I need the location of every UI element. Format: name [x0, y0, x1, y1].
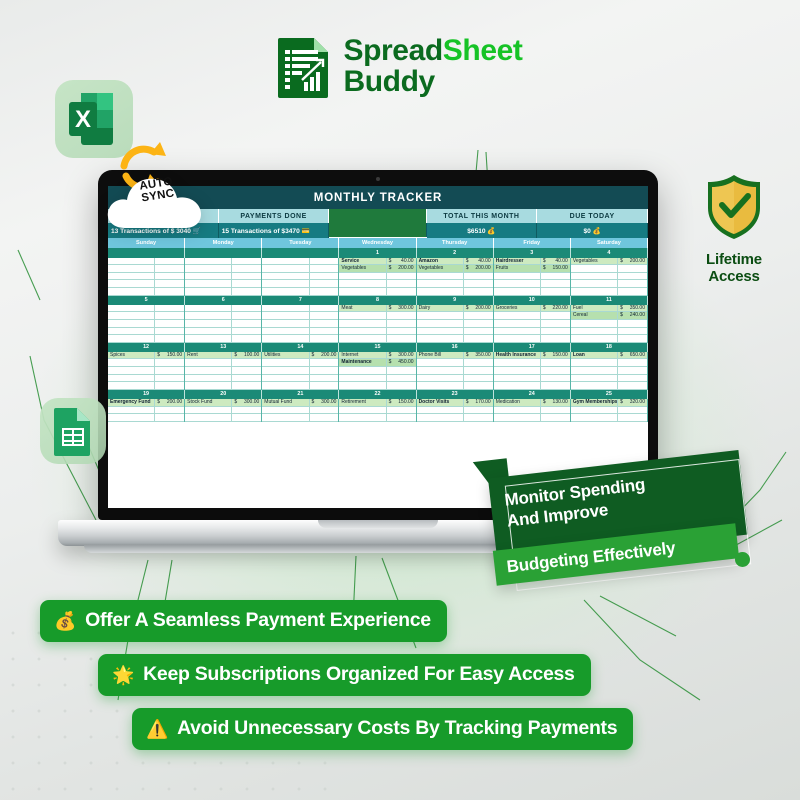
- calendar-cell[interactable]: [108, 375, 185, 383]
- expense-name[interactable]: [108, 312, 155, 320]
- expense-name[interactable]: [262, 273, 309, 281]
- expense-name[interactable]: [108, 382, 155, 390]
- expense-amount[interactable]: [618, 367, 647, 375]
- expense-name[interactable]: [494, 414, 541, 422]
- expense-name[interactable]: [417, 414, 464, 422]
- expense-name[interactable]: Stock Fund: [185, 399, 232, 407]
- calendar-cell[interactable]: [185, 407, 262, 415]
- expense-amount[interactable]: [541, 375, 570, 383]
- expense-name[interactable]: Meat: [339, 305, 386, 313]
- expense-amount[interactable]: [618, 335, 647, 343]
- calendar-cell[interactable]: [571, 335, 648, 343]
- expense-amount[interactable]: [155, 375, 184, 383]
- calendar-cell[interactable]: [494, 273, 571, 281]
- calendar-cell[interactable]: [262, 328, 339, 336]
- calendar-cell[interactable]: [339, 335, 416, 343]
- expense-name[interactable]: [185, 273, 232, 281]
- expense-name[interactable]: [108, 265, 155, 273]
- expense-name[interactable]: [185, 382, 232, 390]
- expense-amount[interactable]: [541, 328, 570, 336]
- calendar-cell[interactable]: [262, 320, 339, 328]
- expense-name[interactable]: [108, 288, 155, 296]
- expense-name[interactable]: [339, 335, 386, 343]
- expense-name[interactable]: [571, 407, 618, 415]
- expense-name[interactable]: Cereal: [571, 312, 618, 320]
- calendar-cell[interactable]: [494, 288, 571, 296]
- expense-name[interactable]: Gym Memberships: [571, 399, 618, 407]
- expense-amount[interactable]: [310, 305, 339, 313]
- expense-amount[interactable]: [232, 288, 261, 296]
- calendar-cell[interactable]: [417, 288, 494, 296]
- expense-name[interactable]: [417, 407, 464, 415]
- calendar-cell[interactable]: [417, 280, 494, 288]
- calendar-cell[interactable]: [339, 407, 416, 415]
- expense-amount[interactable]: $320.00: [618, 399, 647, 407]
- expense-name[interactable]: [339, 320, 386, 328]
- expense-amount[interactable]: $300.00: [232, 399, 261, 407]
- expense-name[interactable]: [262, 367, 309, 375]
- expense-amount[interactable]: [541, 288, 570, 296]
- day-number[interactable]: 24: [494, 390, 571, 399]
- expense-name[interactable]: Amazon: [417, 258, 464, 266]
- expense-name[interactable]: [262, 382, 309, 390]
- calendar-cell[interactable]: [494, 312, 571, 320]
- day-number[interactable]: 21: [262, 390, 339, 399]
- calendar-cell[interactable]: [262, 407, 339, 415]
- calendar-cell[interactable]: [185, 305, 262, 313]
- expense-amount[interactable]: $150.00: [155, 352, 184, 360]
- expense-name[interactable]: Vegetables: [339, 265, 386, 273]
- expense-name[interactable]: Utilities: [262, 352, 309, 360]
- calendar-cell[interactable]: [185, 320, 262, 328]
- calendar-cell[interactable]: [417, 359, 494, 367]
- calendar-cell[interactable]: [339, 328, 416, 336]
- calendar-cell[interactable]: [185, 265, 262, 273]
- expense-amount[interactable]: [310, 280, 339, 288]
- day-number[interactable]: 23: [417, 390, 494, 399]
- expense-name[interactable]: [108, 414, 155, 422]
- expense-name[interactable]: [417, 312, 464, 320]
- calendar-cell[interactable]: [185, 280, 262, 288]
- calendar-cell[interactable]: [417, 407, 494, 415]
- expense-amount[interactable]: [155, 407, 184, 415]
- expense-name[interactable]: [339, 367, 386, 375]
- calendar-cell[interactable]: [108, 414, 185, 422]
- calendar-cell[interactable]: Vegetables$200.00: [417, 265, 494, 273]
- expense-name[interactable]: [494, 407, 541, 415]
- expense-amount[interactable]: [541, 320, 570, 328]
- expense-name[interactable]: [262, 305, 309, 313]
- expense-name[interactable]: [571, 328, 618, 336]
- calendar-cell[interactable]: Rent$100.00: [185, 352, 262, 360]
- expense-amount[interactable]: [387, 273, 416, 281]
- expense-name[interactable]: [185, 280, 232, 288]
- calendar-cell[interactable]: [185, 273, 262, 281]
- day-number[interactable]: 17: [494, 343, 571, 352]
- calendar-cell[interactable]: [339, 320, 416, 328]
- expense-name[interactable]: [185, 258, 232, 266]
- expense-amount[interactable]: [464, 273, 493, 281]
- expense-amount[interactable]: [310, 265, 339, 273]
- expense-name[interactable]: [571, 288, 618, 296]
- expense-amount[interactable]: $40.00: [541, 258, 570, 266]
- calendar-cell[interactable]: [571, 280, 648, 288]
- expense-name[interactable]: Spices: [108, 352, 155, 360]
- expense-name[interactable]: Vegetables: [417, 265, 464, 273]
- expense-amount[interactable]: [155, 312, 184, 320]
- calendar-cell[interactable]: [185, 328, 262, 336]
- calendar-cell[interactable]: [417, 273, 494, 281]
- expense-amount[interactable]: [464, 359, 493, 367]
- calendar-cell[interactable]: Health Insurance$150.00: [494, 352, 571, 360]
- expense-amount[interactable]: [387, 407, 416, 415]
- expense-name[interactable]: Hairdresser: [494, 258, 541, 266]
- calendar-cell[interactable]: [571, 382, 648, 390]
- calendar-cell[interactable]: [108, 407, 185, 415]
- expense-name[interactable]: [339, 280, 386, 288]
- calendar-cell[interactable]: [262, 335, 339, 343]
- calendar-cell[interactable]: Maintenance$450.00: [339, 359, 416, 367]
- expense-name[interactable]: [262, 320, 309, 328]
- calendar-cell[interactable]: [571, 375, 648, 383]
- expense-name[interactable]: [494, 382, 541, 390]
- expense-amount[interactable]: [310, 288, 339, 296]
- expense-name[interactable]: [262, 359, 309, 367]
- expense-amount[interactable]: [618, 280, 647, 288]
- calendar-cell[interactable]: [108, 273, 185, 281]
- expense-amount[interactable]: [155, 273, 184, 281]
- calendar-cell[interactable]: [417, 375, 494, 383]
- expense-amount[interactable]: [155, 359, 184, 367]
- expense-name[interactable]: [185, 375, 232, 383]
- expense-amount[interactable]: [387, 328, 416, 336]
- expense-amount[interactable]: [232, 359, 261, 367]
- expense-amount[interactable]: [464, 328, 493, 336]
- calendar-cell[interactable]: [339, 382, 416, 390]
- calendar-cell[interactable]: Meat$300.00: [339, 305, 416, 313]
- calendar-cell[interactable]: [108, 288, 185, 296]
- expense-name[interactable]: Rent: [185, 352, 232, 360]
- expense-amount[interactable]: [310, 407, 339, 415]
- day-number[interactable]: 8: [339, 296, 416, 305]
- expense-amount[interactable]: $300.00: [310, 399, 339, 407]
- expense-amount[interactable]: [541, 359, 570, 367]
- expense-name[interactable]: [571, 382, 618, 390]
- expense-amount[interactable]: [310, 414, 339, 422]
- calendar-cell[interactable]: [108, 320, 185, 328]
- expense-name[interactable]: [108, 407, 155, 415]
- calendar-cell[interactable]: Internet$300.00: [339, 352, 416, 360]
- expense-amount[interactable]: $650.00: [618, 352, 647, 360]
- expense-name[interactable]: [417, 320, 464, 328]
- day-number[interactable]: [262, 248, 339, 257]
- expense-amount[interactable]: $170.00: [464, 399, 493, 407]
- calendar-cell[interactable]: [185, 375, 262, 383]
- calendar-cell[interactable]: [494, 367, 571, 375]
- calendar-cell[interactable]: Utilities$200.00: [262, 352, 339, 360]
- calendar-cell[interactable]: [571, 273, 648, 281]
- expense-amount[interactable]: [310, 375, 339, 383]
- expense-name[interactable]: [339, 312, 386, 320]
- expense-amount[interactable]: $40.00: [387, 258, 416, 266]
- expense-name[interactable]: [185, 414, 232, 422]
- expense-amount[interactable]: [310, 367, 339, 375]
- expense-amount[interactable]: [155, 414, 184, 422]
- expense-amount[interactable]: [387, 335, 416, 343]
- expense-amount[interactable]: [541, 335, 570, 343]
- expense-name[interactable]: Service: [339, 258, 386, 266]
- calendar-cell[interactable]: Mutual Fund$300.00: [262, 399, 339, 407]
- expense-name[interactable]: Health Insurance: [494, 352, 541, 360]
- expense-name[interactable]: [262, 258, 309, 266]
- expense-amount[interactable]: [387, 414, 416, 422]
- expense-amount[interactable]: [618, 288, 647, 296]
- expense-amount[interactable]: [232, 328, 261, 336]
- expense-amount[interactable]: [541, 414, 570, 422]
- expense-amount[interactable]: [232, 280, 261, 288]
- expense-amount[interactable]: [155, 320, 184, 328]
- calendar-cell[interactable]: [185, 382, 262, 390]
- expense-amount[interactable]: [232, 265, 261, 273]
- calendar-cell[interactable]: Emergency Fund$200.00: [108, 399, 185, 407]
- calendar-cell[interactable]: Medication$130.00: [494, 399, 571, 407]
- expense-amount[interactable]: [541, 367, 570, 375]
- expense-name[interactable]: [417, 382, 464, 390]
- calendar-cell[interactable]: [571, 414, 648, 422]
- expense-name[interactable]: Fruits: [494, 265, 541, 273]
- expense-name[interactable]: [108, 280, 155, 288]
- day-number[interactable]: 19: [108, 390, 185, 399]
- expense-name[interactable]: [262, 265, 309, 273]
- expense-amount[interactable]: [464, 320, 493, 328]
- day-number[interactable]: 25: [571, 390, 648, 399]
- expense-amount[interactable]: [232, 273, 261, 281]
- calendar-cell[interactable]: [108, 335, 185, 343]
- expense-amount[interactable]: [618, 382, 647, 390]
- expense-name[interactable]: [108, 305, 155, 313]
- calendar-cell[interactable]: [108, 265, 185, 273]
- expense-amount[interactable]: $220.00: [541, 305, 570, 313]
- expense-name[interactable]: [185, 312, 232, 320]
- day-number[interactable]: [185, 248, 262, 257]
- expense-name[interactable]: [571, 335, 618, 343]
- expense-amount[interactable]: [541, 312, 570, 320]
- expense-name[interactable]: [417, 288, 464, 296]
- day-number[interactable]: 11: [571, 296, 648, 305]
- calendar-cell[interactable]: [108, 280, 185, 288]
- expense-amount[interactable]: $200.00: [155, 399, 184, 407]
- calendar-cell[interactable]: [339, 280, 416, 288]
- expense-name[interactable]: [262, 407, 309, 415]
- expense-name[interactable]: [417, 359, 464, 367]
- expense-amount[interactable]: [310, 273, 339, 281]
- expense-amount[interactable]: [387, 312, 416, 320]
- expense-name[interactable]: [494, 312, 541, 320]
- expense-amount[interactable]: [155, 382, 184, 390]
- expense-name[interactable]: [417, 273, 464, 281]
- expense-name[interactable]: Fuel: [571, 305, 618, 313]
- expense-name[interactable]: [339, 407, 386, 415]
- expense-amount[interactable]: [618, 359, 647, 367]
- expense-name[interactable]: Internet: [339, 352, 386, 360]
- expense-name[interactable]: Retirement: [339, 399, 386, 407]
- calendar-cell[interactable]: Amazon$40.00: [417, 258, 494, 266]
- expense-amount[interactable]: [155, 280, 184, 288]
- expense-amount[interactable]: $150.00: [387, 399, 416, 407]
- expense-amount[interactable]: [387, 367, 416, 375]
- calendar-cell[interactable]: [108, 258, 185, 266]
- day-number[interactable]: 4: [571, 248, 648, 257]
- expense-amount[interactable]: $40.00: [464, 258, 493, 266]
- expense-amount[interactable]: [387, 375, 416, 383]
- expense-amount[interactable]: [232, 375, 261, 383]
- expense-amount[interactable]: [310, 258, 339, 266]
- expense-name[interactable]: Groceries: [494, 305, 541, 313]
- expense-amount[interactable]: [464, 280, 493, 288]
- calendar-cell[interactable]: Hairdresser$40.00: [494, 258, 571, 266]
- calendar-cell[interactable]: [417, 414, 494, 422]
- day-number[interactable]: 22: [339, 390, 416, 399]
- expense-amount[interactable]: [541, 382, 570, 390]
- expense-name[interactable]: [185, 367, 232, 375]
- expense-amount[interactable]: [387, 288, 416, 296]
- expense-name[interactable]: [494, 367, 541, 375]
- expense-name[interactable]: [494, 288, 541, 296]
- calendar-cell[interactable]: [262, 305, 339, 313]
- expense-amount[interactable]: $100.00: [232, 352, 261, 360]
- expense-amount[interactable]: [618, 328, 647, 336]
- calendar-cell[interactable]: Cereal$240.00: [571, 312, 648, 320]
- expense-amount[interactable]: [541, 273, 570, 281]
- calendar-cell[interactable]: [494, 280, 571, 288]
- expense-amount[interactable]: $200.00: [464, 265, 493, 273]
- calendar-cell[interactable]: [262, 273, 339, 281]
- expense-amount[interactable]: [464, 312, 493, 320]
- day-number[interactable]: 2: [417, 248, 494, 257]
- expense-name[interactable]: [108, 320, 155, 328]
- calendar-cell[interactable]: [494, 320, 571, 328]
- expense-amount[interactable]: $200.00: [310, 352, 339, 360]
- calendar-cell[interactable]: Stock Fund$300.00: [185, 399, 262, 407]
- day-number[interactable]: 18: [571, 343, 648, 352]
- expense-amount[interactable]: [155, 305, 184, 313]
- calendar-cell[interactable]: [339, 367, 416, 375]
- calendar-cell[interactable]: [571, 407, 648, 415]
- expense-name[interactable]: [262, 414, 309, 422]
- day-number[interactable]: 1: [339, 248, 416, 257]
- expense-name[interactable]: [417, 335, 464, 343]
- expense-name[interactable]: [339, 375, 386, 383]
- expense-name[interactable]: Dairy: [417, 305, 464, 313]
- expense-amount[interactable]: [541, 407, 570, 415]
- expense-name[interactable]: Vegetables: [571, 258, 618, 266]
- expense-amount[interactable]: [618, 375, 647, 383]
- expense-amount[interactable]: [464, 375, 493, 383]
- expense-amount[interactable]: [618, 407, 647, 415]
- calendar-cell[interactable]: [262, 359, 339, 367]
- expense-name[interactable]: [494, 273, 541, 281]
- expense-name[interactable]: [185, 328, 232, 336]
- expense-amount[interactable]: [155, 335, 184, 343]
- expense-amount[interactable]: [310, 382, 339, 390]
- expense-amount[interactable]: $150.00: [541, 352, 570, 360]
- expense-name[interactable]: Emergency Fund: [108, 399, 155, 407]
- expense-name[interactable]: Maintenance: [339, 359, 386, 367]
- expense-name[interactable]: [108, 273, 155, 281]
- expense-amount[interactable]: [310, 312, 339, 320]
- expense-amount[interactable]: [232, 382, 261, 390]
- day-number[interactable]: 10: [494, 296, 571, 305]
- expense-amount[interactable]: [464, 367, 493, 375]
- expense-name[interactable]: [185, 359, 232, 367]
- expense-amount[interactable]: [464, 288, 493, 296]
- day-number[interactable]: 12: [108, 343, 185, 352]
- expense-name[interactable]: Phone Bill: [417, 352, 464, 360]
- expense-amount[interactable]: $240.00: [618, 312, 647, 320]
- calendar-cell[interactable]: Dairy$200.00: [417, 305, 494, 313]
- expense-name[interactable]: [494, 359, 541, 367]
- expense-amount[interactable]: [464, 335, 493, 343]
- calendar-cell[interactable]: Fuel$350.00: [571, 305, 648, 313]
- expense-amount[interactable]: [464, 382, 493, 390]
- expense-amount[interactable]: [387, 320, 416, 328]
- expense-amount[interactable]: $450.00: [387, 359, 416, 367]
- calendar-cell[interactable]: [262, 312, 339, 320]
- expense-amount[interactable]: [618, 273, 647, 281]
- expense-amount[interactable]: [232, 258, 261, 266]
- calendar-cell[interactable]: [185, 258, 262, 266]
- calendar-cell[interactable]: [571, 320, 648, 328]
- expense-name[interactable]: [571, 265, 618, 273]
- day-number[interactable]: 16: [417, 343, 494, 352]
- calendar-cell[interactable]: [262, 367, 339, 375]
- expense-name[interactable]: [494, 335, 541, 343]
- calendar-cell[interactable]: [417, 382, 494, 390]
- calendar-cell[interactable]: [108, 359, 185, 367]
- calendar-cell[interactable]: Retirement$150.00: [339, 399, 416, 407]
- expense-amount[interactable]: $200.00: [464, 305, 493, 313]
- day-number[interactable]: 20: [185, 390, 262, 399]
- expense-name[interactable]: [108, 375, 155, 383]
- expense-name[interactable]: [108, 359, 155, 367]
- calendar-cell[interactable]: [417, 335, 494, 343]
- calendar-cell[interactable]: [185, 367, 262, 375]
- expense-name[interactable]: [185, 288, 232, 296]
- day-number[interactable]: 15: [339, 343, 416, 352]
- feature-pill[interactable]: 🌟Keep Subscriptions Organized For Easy A…: [98, 654, 591, 696]
- expense-amount[interactable]: [232, 312, 261, 320]
- expense-amount[interactable]: $200.00: [618, 258, 647, 266]
- expense-name[interactable]: [262, 328, 309, 336]
- calendar-cell[interactable]: Vegetables$200.00: [571, 258, 648, 266]
- expense-amount[interactable]: $350.00: [618, 305, 647, 313]
- day-number[interactable]: 14: [262, 343, 339, 352]
- calendar-cell[interactable]: Gym Memberships$320.00: [571, 399, 648, 407]
- calendar-cell[interactable]: Fruits$150.00: [494, 265, 571, 273]
- expense-amount[interactable]: $150.00: [541, 265, 570, 273]
- expense-name[interactable]: [262, 288, 309, 296]
- calendar-cell[interactable]: Groceries$220.00: [494, 305, 571, 313]
- expense-amount[interactable]: [387, 382, 416, 390]
- calendar-cell[interactable]: [571, 367, 648, 375]
- calendar-cell[interactable]: [185, 359, 262, 367]
- calendar-cell[interactable]: [185, 335, 262, 343]
- expense-amount[interactable]: [232, 335, 261, 343]
- calendar-cell[interactable]: [339, 414, 416, 422]
- expense-amount[interactable]: [155, 265, 184, 273]
- day-number[interactable]: [108, 248, 185, 257]
- calendar-cell[interactable]: [571, 288, 648, 296]
